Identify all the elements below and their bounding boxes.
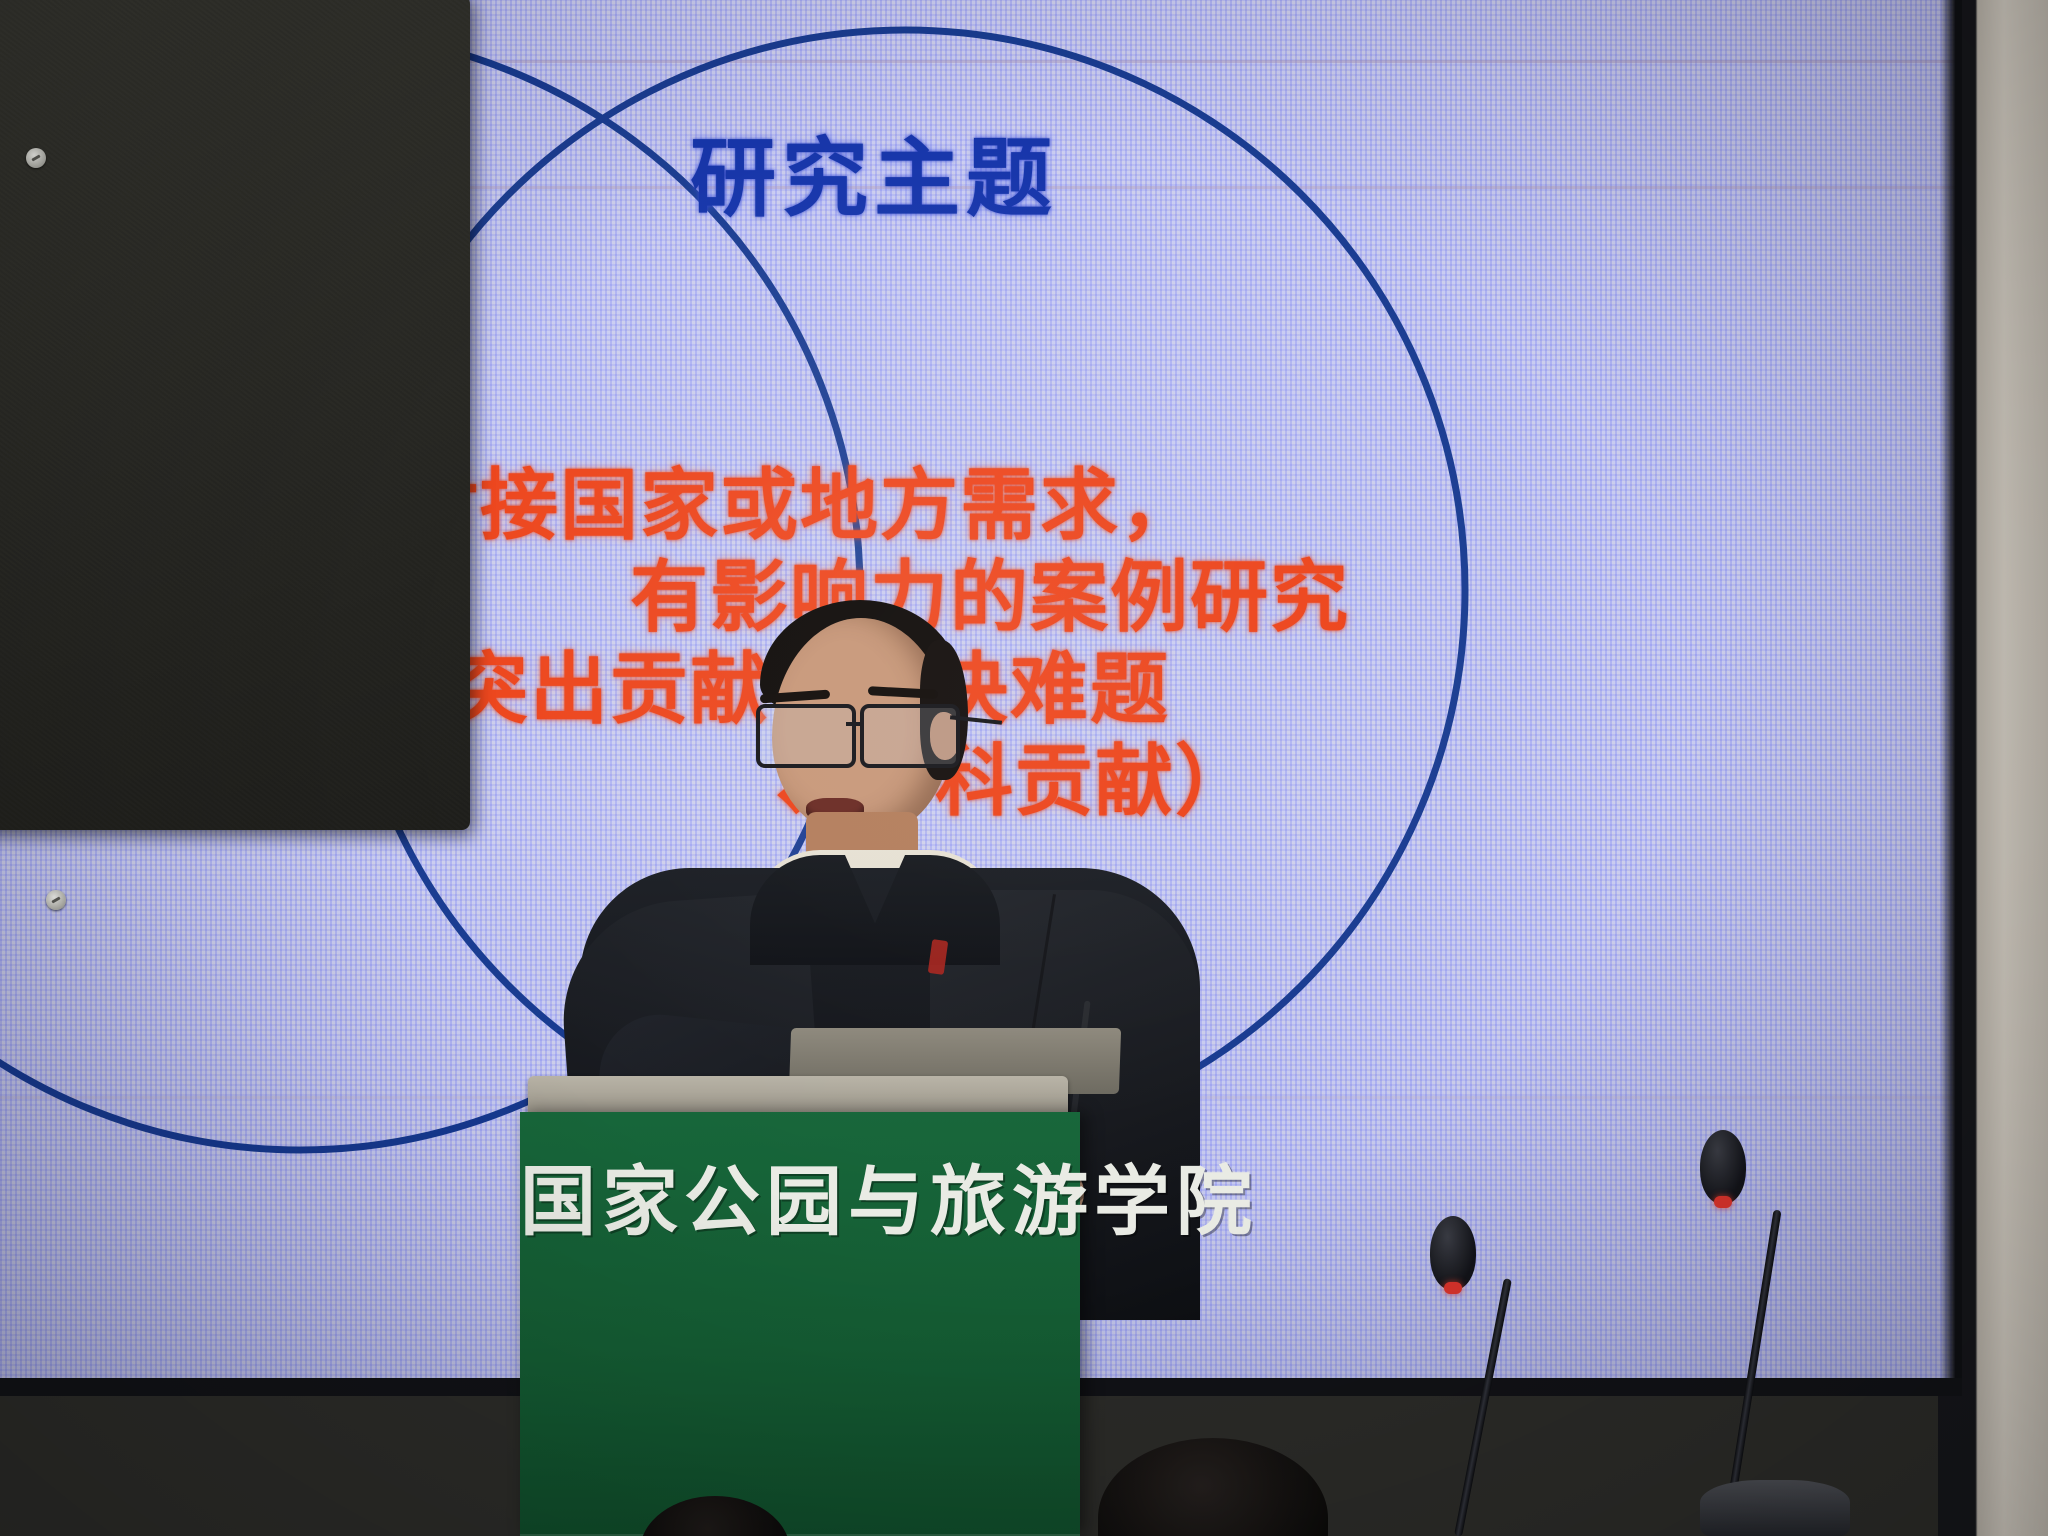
mic-capsule bbox=[1700, 1130, 1746, 1204]
gooseneck-microphone-rear bbox=[1700, 1130, 1890, 1536]
gooseneck-microphone-front bbox=[1430, 1216, 1620, 1536]
panel-texture bbox=[0, 0, 470, 830]
screen-right-edge bbox=[1940, 0, 1962, 1396]
screenshot-root: 研究主题 对接国家或地方需求， 有影响力的案例研究 （突出贡献：解决难题 、学科… bbox=[0, 0, 2048, 1536]
panel-screw-icon bbox=[26, 148, 46, 168]
mic-base bbox=[1700, 1480, 1850, 1536]
podium-surface bbox=[528, 1076, 1068, 1116]
podium-sign-text: 国家公园与旅游学院 bbox=[520, 1140, 1080, 1250]
lens-right bbox=[860, 704, 960, 768]
audience-head bbox=[1098, 1438, 1328, 1536]
eyeglasses bbox=[750, 704, 970, 766]
mic-capsule bbox=[1430, 1216, 1476, 1290]
glasses-bridge bbox=[846, 722, 864, 726]
mic-led-indicator bbox=[1444, 1282, 1462, 1294]
podium-name-plate: 国家公园与旅游学院 bbox=[520, 1112, 1080, 1536]
foreground-dark-panel bbox=[0, 0, 470, 830]
lens-left bbox=[756, 704, 856, 768]
panel-screw-icon bbox=[46, 890, 66, 910]
mic-stem bbox=[1454, 1278, 1512, 1536]
mic-led-indicator bbox=[1714, 1196, 1732, 1208]
